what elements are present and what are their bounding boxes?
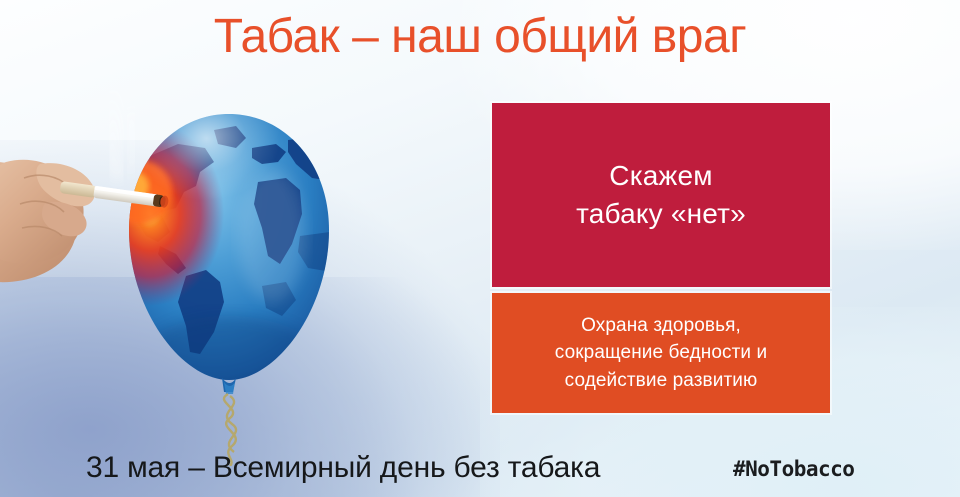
slogan-text-red: Скажем табаку «нет» [566,157,756,233]
slogan-panel-red: Скажем табаку «нет» [492,103,830,287]
theme-line1: Охрана здоровья, [581,315,741,336]
cigarette-smoke [111,86,134,178]
theme-line3: содействие развитию [565,370,758,391]
theme-text-orange: Охрана здоровья, сокращение бедности и с… [545,312,777,395]
slogan-red-line2: табаку «нет» [576,198,746,229]
balloon-globe-illustration [0,86,420,466]
slogan-red-line1: Скажем [609,160,712,191]
poster-canvas: Табак – наш общий враг [0,0,960,497]
footer-date-line: 31 мая – Всемирный день без табака [86,451,600,485]
page-title: Табак – наш общий враг [0,12,960,62]
theme-line2: сокращение бедности и [555,342,767,363]
footer-hashtag: #NoTobacco [733,457,854,481]
theme-panel-orange: Охрана здоровья, сокращение бедности и с… [492,293,830,413]
